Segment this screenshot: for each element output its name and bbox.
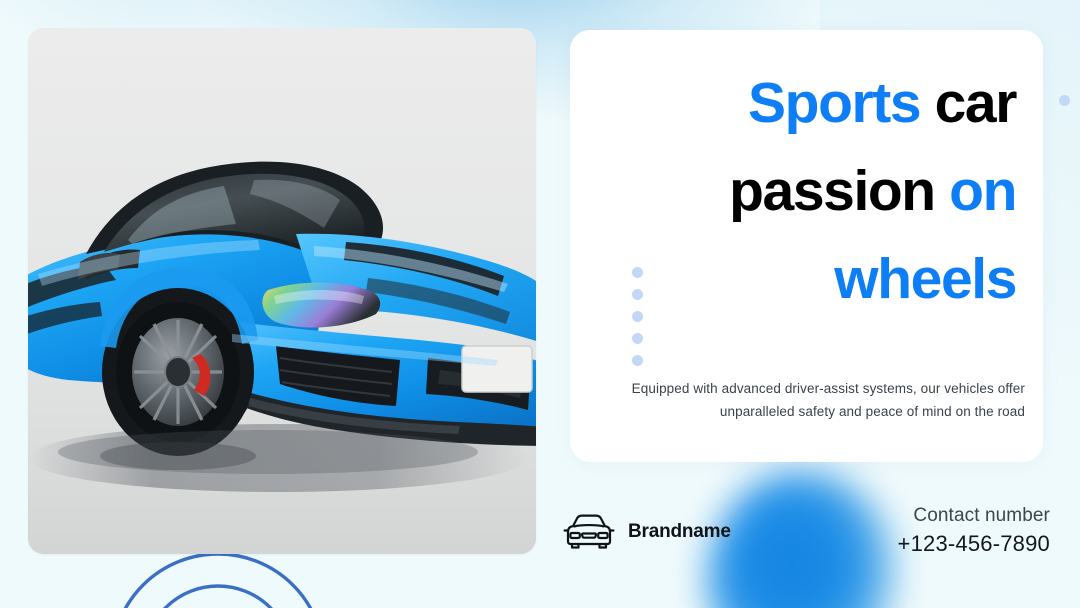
page-title: Sports car passion on wheels — [596, 60, 1016, 323]
headline-line-1: Sports car — [596, 60, 1016, 148]
decorative-dot-column — [632, 267, 643, 366]
contact-label: Contact number — [898, 505, 1050, 527]
body-paragraph: Equipped with advanced driver-assist sys… — [622, 377, 1025, 423]
headline-word-car: car — [920, 71, 1016, 135]
contact-number[interactable]: +123-456-7890 — [898, 531, 1050, 557]
headline-word-sports: Sports — [748, 71, 920, 135]
decorative-dot — [632, 355, 643, 366]
car-front-icon — [562, 513, 616, 551]
brand-logo[interactable]: Brandname — [562, 513, 731, 551]
contact-block: Contact number +123-456-7890 — [898, 505, 1050, 557]
decorative-dot — [632, 267, 643, 278]
headline-word-wheels: wheels — [834, 247, 1016, 311]
headline-word-on: on — [949, 159, 1016, 223]
headline-line-2: passion on — [596, 148, 1016, 236]
decorative-dot — [632, 289, 643, 300]
headline-line-3: wheels — [596, 236, 1016, 324]
hero-car-photo — [28, 28, 536, 554]
brand-name-label: Brandname — [628, 521, 731, 543]
decorative-dot — [632, 311, 643, 322]
headline-word-passion: passion — [729, 159, 949, 223]
decorative-dot — [632, 333, 643, 344]
decorative-dot-right-edge — [1059, 95, 1070, 106]
headline-card: Sports car passion on wheels Equipped wi… — [570, 30, 1043, 462]
